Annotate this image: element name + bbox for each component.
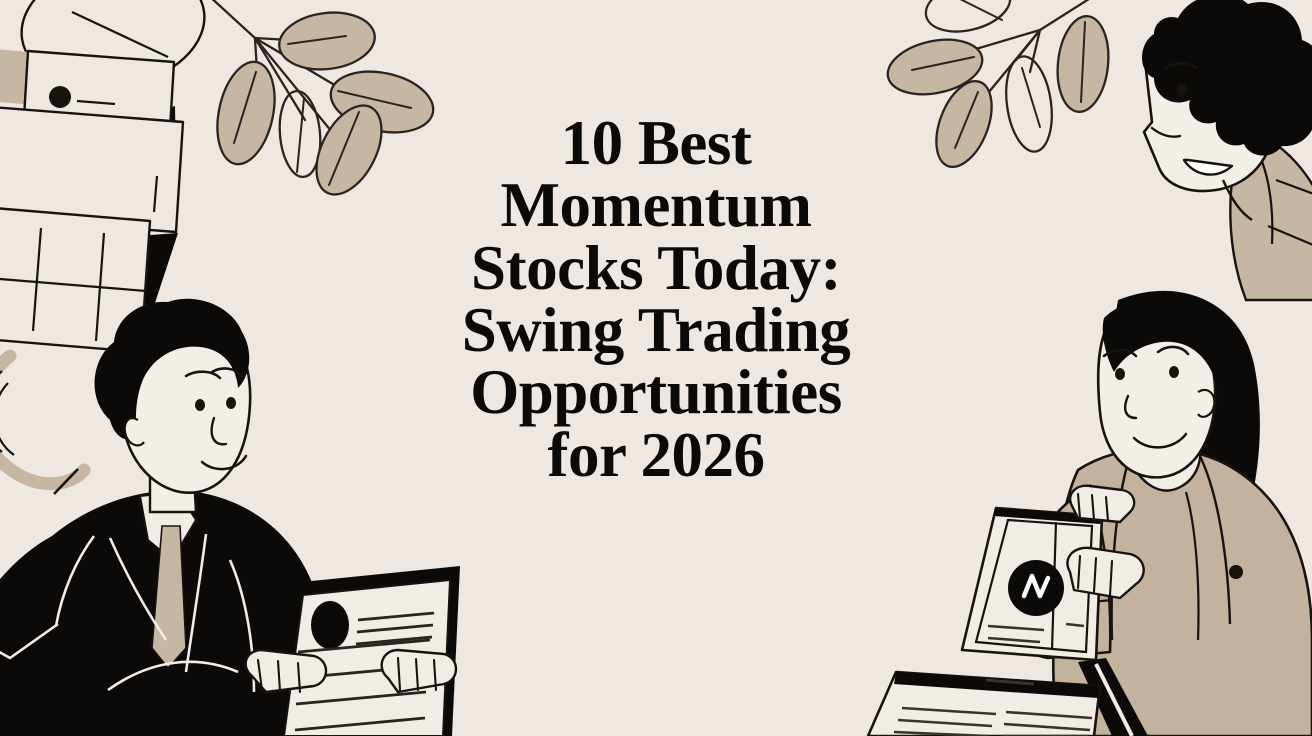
certificate-document [272,566,460,736]
man-eye-right [226,397,236,409]
woman-eye-left [1115,368,1125,380]
paper-dot [49,86,71,108]
illustration-layer [0,0,1312,736]
certificate-portrait-dot [311,601,349,649]
woman-ear [1198,390,1214,417]
woman-blazer-button [1229,565,1243,579]
man-eye-left [195,399,205,411]
woman-eye-right [1169,366,1179,378]
poster-canvas: 10 Best Momentum Stocks Today: Swing Tra… [0,0,1312,736]
tr-person-eye [1177,84,1187,96]
